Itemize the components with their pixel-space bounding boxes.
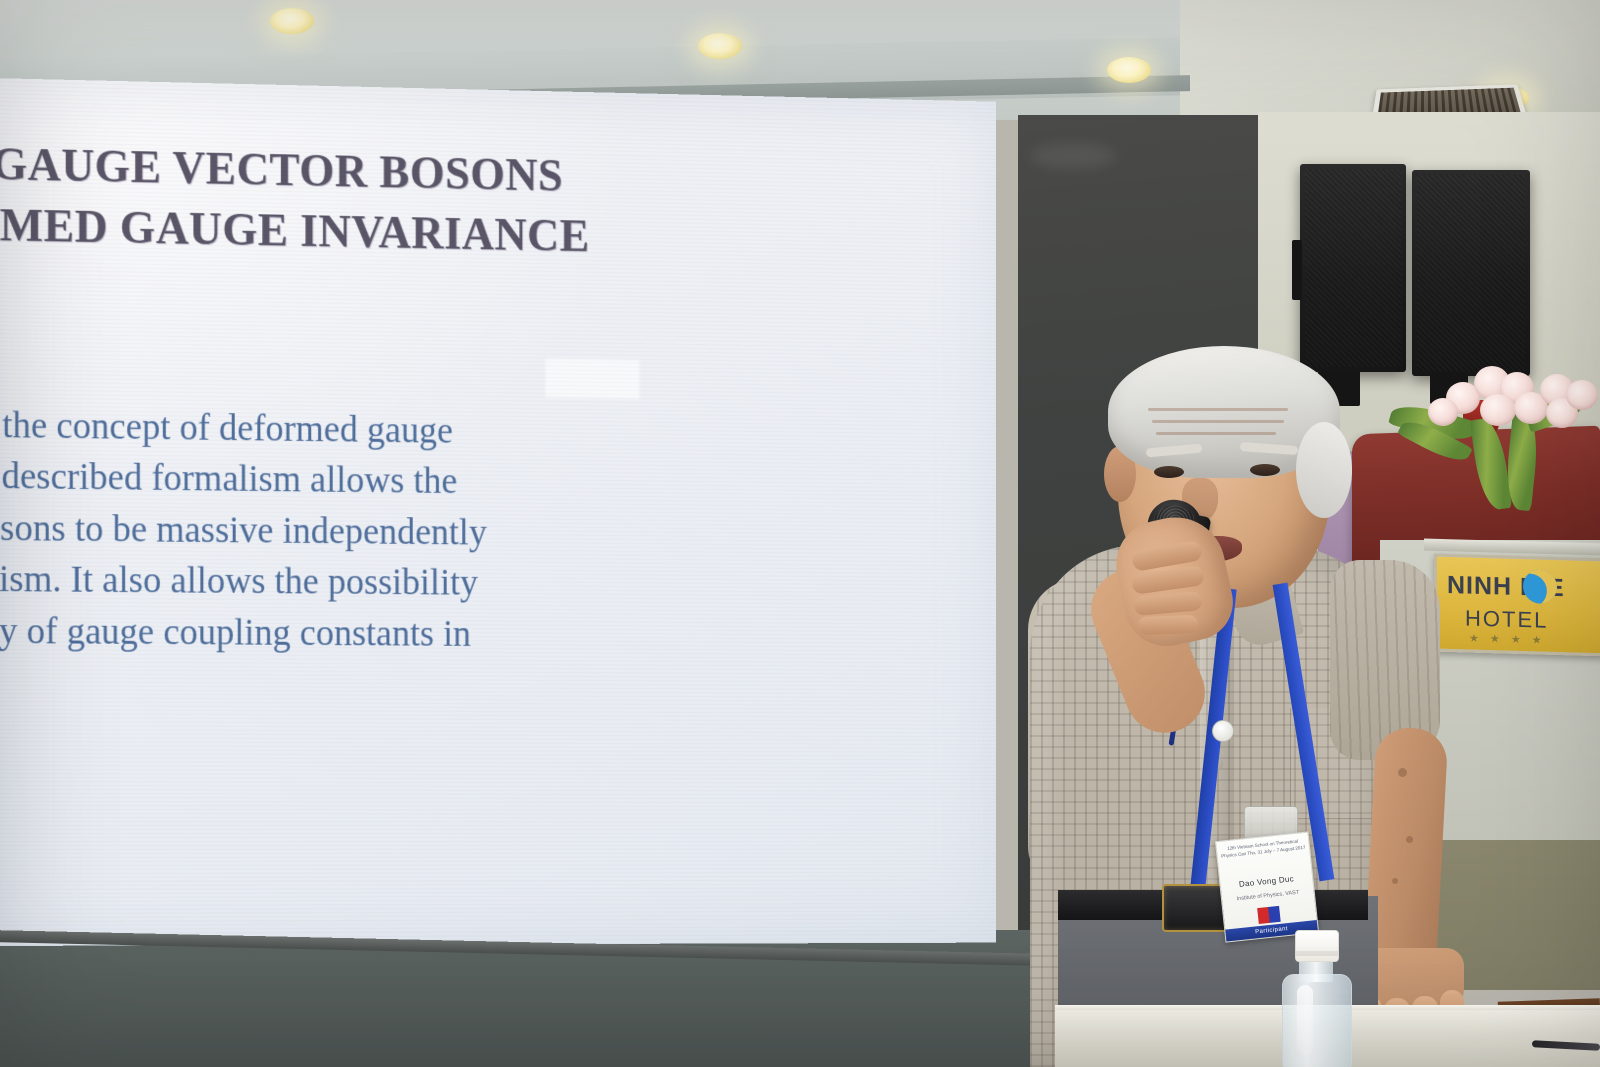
- speaker-handle: [1292, 240, 1302, 300]
- conference-photo-scene: SIVE GAUGE VECTOR BOSONS EFORMED GAUGE I…: [0, 0, 1600, 1067]
- badge-name-text: Dao Vong Duc: [1220, 872, 1312, 891]
- skin-mark: [1406, 836, 1413, 843]
- skin-mark: [1392, 878, 1398, 884]
- badge-header-text: 12th Vietnam School on Theoretical Physi…: [1220, 838, 1307, 860]
- slide-body-text: onsider the concept of deformed gauge ce…: [0, 399, 868, 713]
- slide-highlight-artifact: [545, 358, 639, 399]
- speaker-person: 12th Vietnam School on Theoretical Physi…: [1000, 350, 1520, 1067]
- eye-right: [1250, 464, 1280, 476]
- skin-mark: [1398, 768, 1407, 777]
- ceiling-light-icon: [1107, 57, 1151, 83]
- pa-speaker-right: [1412, 170, 1530, 376]
- water-bottle: [1277, 930, 1355, 1067]
- slide-body-line-5: ariability of gauge coupling constants i…: [0, 605, 868, 662]
- ceiling-light-icon: [270, 8, 314, 34]
- forehead-wrinkle: [1148, 408, 1288, 411]
- slide-body-line-3: auge bosons to be massive independently: [0, 502, 868, 562]
- forehead-wrinkle: [1156, 432, 1276, 435]
- presentation-slide: SIVE GAUGE VECTOR BOSONS EFORMED GAUGE I…: [0, 78, 996, 946]
- slide-body-line-2: ce. The described formalism allows the: [0, 450, 868, 512]
- forehead-wrinkle: [1152, 420, 1284, 423]
- eye-left: [1154, 466, 1184, 478]
- name-badge: 12th Vietnam School on Theoretical Physi…: [1215, 831, 1319, 942]
- finger: [1138, 615, 1199, 635]
- screen-surface: SIVE GAUGE VECTOR BOSONS EFORMED GAUGE I…: [0, 78, 996, 946]
- slide-body-line-6: me.: [0, 657, 868, 713]
- badge-logo-icon: [1257, 906, 1281, 924]
- rose-icon: [1566, 380, 1598, 410]
- slide-body-line-4: mechanism. It also allows the possibilit…: [0, 553, 868, 612]
- slide-title: SIVE GAUGE VECTOR BOSONS EFORMED GAUGE I…: [0, 131, 921, 272]
- bottle-body: [1282, 974, 1352, 1067]
- bottle-cap: [1295, 930, 1339, 962]
- lanyard-pin-icon: [1212, 720, 1234, 742]
- ceiling-light-icon: [698, 33, 742, 59]
- projection-screen: SIVE GAUGE VECTOR BOSONS EFORMED GAUGE I…: [0, 78, 996, 946]
- badge-affiliation-text: Institute of Physics, VAST: [1222, 888, 1314, 904]
- pa-speaker-left: [1300, 164, 1406, 372]
- hair-side: [1296, 422, 1352, 518]
